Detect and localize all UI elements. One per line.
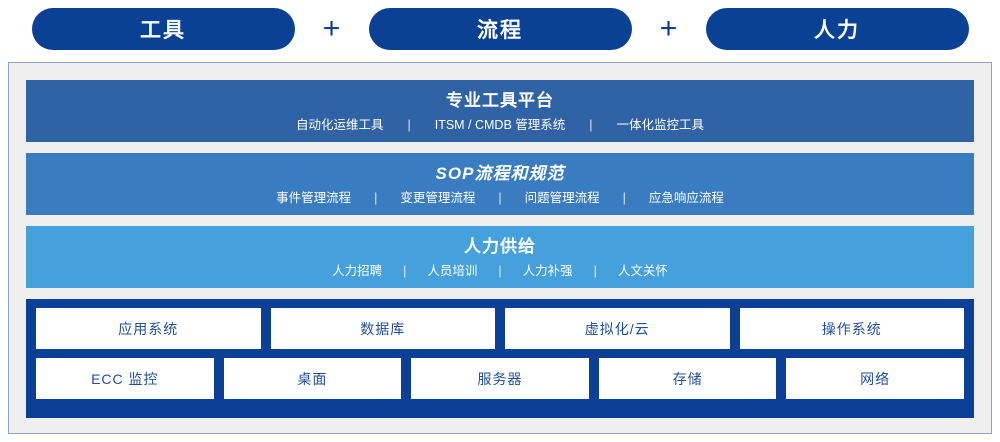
diagram-frame: 专业工具平台 自动化运维工具 | ITSM / CMDB 管理系统 | 一体化监… <box>8 62 992 434</box>
band-2-items: 事件管理流程 | 变更管理流程 | 问题管理流程 | 应急响应流程 <box>26 189 974 207</box>
band-2-title: SOP流程和规范 <box>26 162 974 186</box>
object-box-database[interactable]: 数据库 <box>271 308 496 349</box>
band-2-separator-3: | <box>621 189 628 207</box>
managed-objects-container: 应用系统 数据库 虚拟化/云 操作系统 ECC 监控 <box>26 299 974 418</box>
band-professional-tool-platform[interactable]: 专业工具平台 自动化运维工具 | ITSM / CMDB 管理系统 | 一体化监… <box>26 80 974 142</box>
pill-process[interactable]: 流程 <box>369 8 632 50</box>
band-3-title: 人力供给 <box>26 235 974 259</box>
band-1-item-3: 一体化监控工具 <box>595 116 727 134</box>
object-box-label: 服务器 <box>477 369 522 389</box>
object-box-label: 存储 <box>673 369 703 389</box>
managed-objects-row-2: ECC 监控 桌面 服务器 存储 网络 <box>36 358 964 399</box>
band-3-item-2: 人员培训 <box>408 262 496 280</box>
band-3-separator-3: | <box>592 262 599 280</box>
band-3-separator-1: | <box>401 262 408 280</box>
pill-manpower[interactable]: 人力 <box>706 8 969 50</box>
object-box-server[interactable]: 服务器 <box>411 358 589 399</box>
plus-icon-2: + <box>632 14 706 44</box>
band-2-separator-1: | <box>372 189 379 207</box>
band-3-items: 人力招聘 | 人员培训 | 人力补强 | 人文关怀 <box>26 262 974 280</box>
capability-diagram: 工具 + 流程 + 人力 专业工具平台 自动化运维工具 | ITSM / CMD… <box>0 0 1000 442</box>
band-3-item-4: 人文关怀 <box>599 262 687 280</box>
band-3-separator-2: | <box>496 262 503 280</box>
pill-process-label: 流程 <box>477 14 523 44</box>
object-box-label: 桌面 <box>297 369 327 389</box>
band-2-item-2: 变更管理流程 <box>379 189 496 207</box>
object-box-label: 应用系统 <box>118 319 178 339</box>
band-sop-process-and-standards[interactable]: SOP流程和规范 事件管理流程 | 变更管理流程 | 问题管理流程 | 应急响应… <box>26 153 974 215</box>
object-box-operating-system[interactable]: 操作系统 <box>740 308 965 349</box>
object-box-virtualization-cloud[interactable]: 虚拟化/云 <box>505 308 730 349</box>
band-2-item-4: 应急响应流程 <box>628 189 745 207</box>
band-manpower-supply[interactable]: 人力供给 人力招聘 | 人员培训 | 人力补强 | 人文关怀 <box>26 226 974 288</box>
plus-icon-1: + <box>295 14 369 44</box>
top-pill-row: 工具 + 流程 + 人力 <box>0 0 1000 58</box>
band-1-separator-1: | <box>405 116 412 134</box>
object-box-label: 虚拟化/云 <box>585 319 650 339</box>
band-1-title: 专业工具平台 <box>26 89 974 113</box>
object-box-label: 操作系统 <box>822 319 882 339</box>
band-2-item-3: 问题管理流程 <box>504 189 621 207</box>
band-1-items: 自动化运维工具 | ITSM / CMDB 管理系统 | 一体化监控工具 <box>26 116 974 134</box>
pill-tools-label: 工具 <box>140 14 186 44</box>
managed-objects-row-1: 应用系统 数据库 虚拟化/云 操作系统 <box>36 308 964 349</box>
object-box-storage[interactable]: 存储 <box>599 358 777 399</box>
pill-manpower-label: 人力 <box>814 14 860 44</box>
band-2-item-1: 事件管理流程 <box>255 189 372 207</box>
object-box-ecc-monitoring[interactable]: ECC 监控 <box>36 358 214 399</box>
band-1-item-1: 自动化运维工具 <box>274 116 406 134</box>
band-1-item-2: ITSM / CMDB 管理系统 <box>413 116 588 134</box>
object-box-label: 网络 <box>860 369 890 389</box>
object-box-network[interactable]: 网络 <box>786 358 964 399</box>
band-3-item-3: 人力补强 <box>504 262 592 280</box>
band-1-separator-2: | <box>587 116 594 134</box>
object-box-label: ECC 监控 <box>91 369 158 389</box>
pill-tools[interactable]: 工具 <box>32 8 295 50</box>
band-2-separator-2: | <box>496 189 503 207</box>
object-box-label: 数据库 <box>360 319 405 339</box>
object-box-application-system[interactable]: 应用系统 <box>36 308 261 349</box>
band-stack: 专业工具平台 自动化运维工具 | ITSM / CMDB 管理系统 | 一体化监… <box>26 80 974 416</box>
object-box-desktop[interactable]: 桌面 <box>224 358 402 399</box>
band-3-item-1: 人力招聘 <box>313 262 401 280</box>
